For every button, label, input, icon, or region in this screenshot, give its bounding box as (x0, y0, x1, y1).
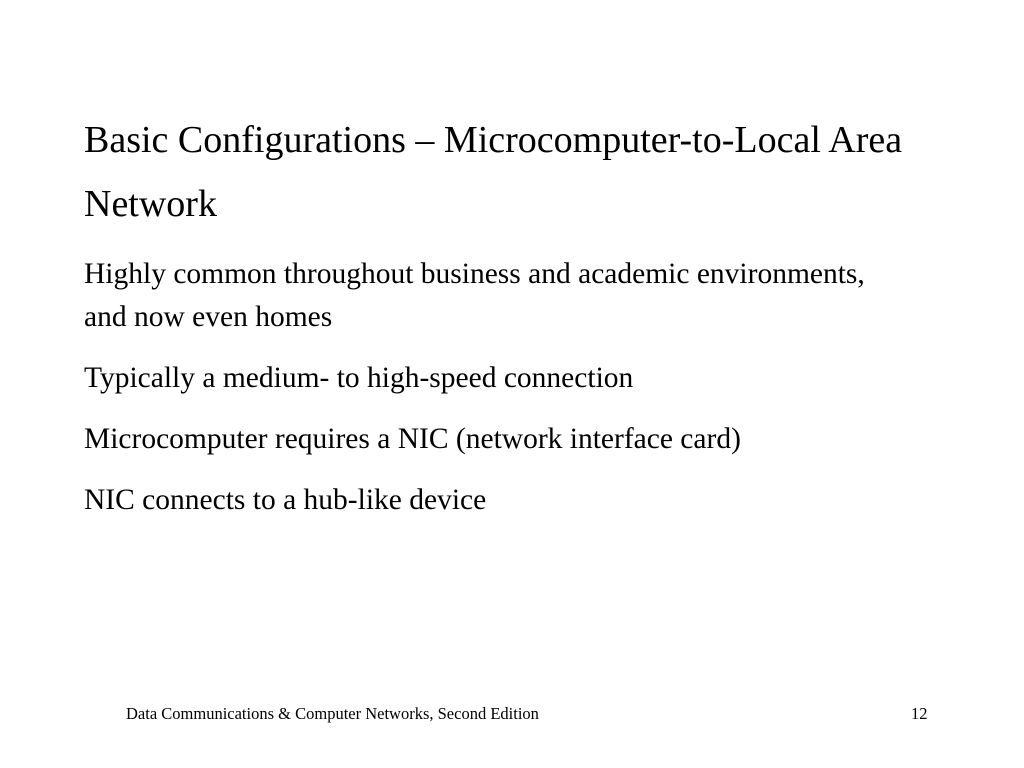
footer-source-text: Data Communications & Computer Networks,… (126, 703, 539, 725)
bullet-list: Highly common throughout business and ac… (84, 253, 914, 522)
slide-body: Highly common throughout business and ac… (84, 253, 914, 522)
slide-footer: Data Communications & Computer Networks,… (0, 703, 1024, 727)
bullet-item: NIC connects to a hub-like device (84, 479, 914, 522)
slide-title: Basic Configurations – Microcomputer-to-… (84, 108, 924, 236)
slide-canvas: Basic Configurations – Microcomputer-to-… (0, 0, 1024, 768)
bullet-item: Typically a medium- to high-speed connec… (84, 357, 914, 400)
bullet-item: Microcomputer requires a NIC (network in… (84, 418, 914, 461)
footer-page-number: 12 (911, 703, 928, 725)
bullet-item: Highly common throughout business and ac… (84, 253, 914, 339)
